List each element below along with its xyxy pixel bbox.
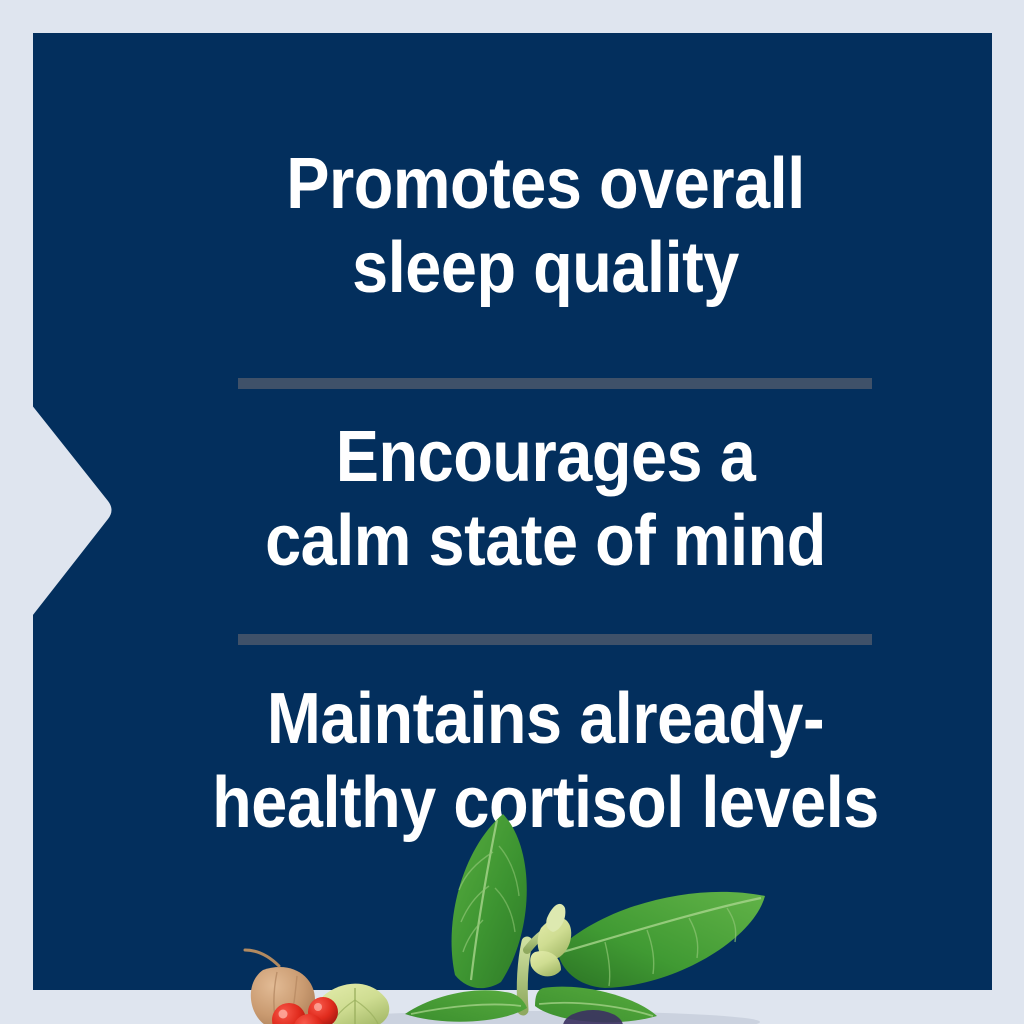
benefit-text-sleep-quality: Promotes overall sleep quality — [114, 143, 977, 310]
benefit-text-calm-mind: Encourages a calm state of mind — [114, 416, 977, 583]
benefit-text-cortisol-levels: Maintains already- healthy cortisol leve… — [114, 678, 977, 845]
benefits-card: Promotes overall sleep quality Encourage… — [33, 33, 992, 990]
infographic-canvas: Promotes overall sleep quality Encourage… — [0, 0, 1024, 1024]
benefit-divider-2 — [238, 634, 872, 645]
benefit-divider-1 — [238, 378, 872, 389]
